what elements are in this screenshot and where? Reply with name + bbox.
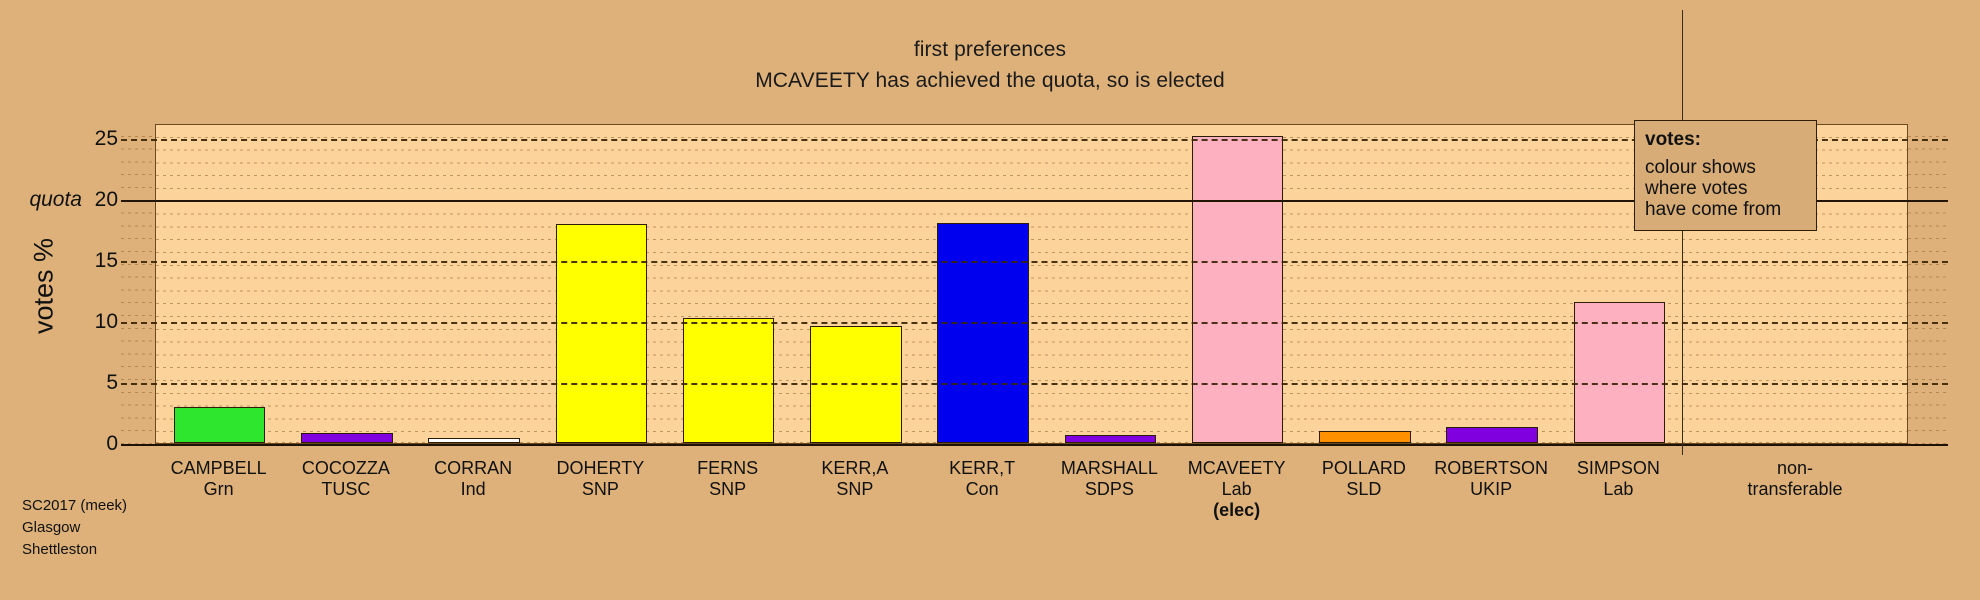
x-label-elected: (elec) <box>1173 500 1300 521</box>
x-label-party: Con <box>919 479 1046 500</box>
bar-ferns[interactable] <box>683 318 775 443</box>
x-label-name: MCAVEETY <box>1173 458 1300 479</box>
grid-shoulder-left <box>121 124 155 444</box>
bar-corran[interactable] <box>428 438 520 443</box>
x-label-kerr-t: KERR,TCon <box>919 458 1046 500</box>
x-label-party: Grn <box>155 479 282 500</box>
x-label-name: MARSHALL <box>1046 458 1173 479</box>
x-label-marshall: MARSHALLSDPS <box>1046 458 1173 500</box>
gridline-5 <box>121 383 1948 385</box>
y-tick-label-5: 5 <box>0 371 118 395</box>
x-label-party: SDPS <box>1046 479 1173 500</box>
x-label-name: DOHERTY <box>537 458 664 479</box>
bar-kerr-t[interactable] <box>937 223 1029 443</box>
x-label-party: Ind <box>410 479 537 500</box>
bar-robertson[interactable] <box>1446 427 1538 443</box>
x-label-robertson: ROBERTSONUKIP <box>1428 458 1555 500</box>
x-label-party: UKIP <box>1428 479 1555 500</box>
x-label-name: ROBERTSON <box>1428 458 1555 479</box>
quota-label: quota <box>0 188 82 212</box>
y-tick-label-0: 0 <box>0 432 118 456</box>
bar-mcaveety[interactable] <box>1192 136 1284 443</box>
x-label-non-transferable: non-transferable <box>1682 458 1908 500</box>
footer-line-2: Glasgow <box>22 517 127 539</box>
legend-line-2: where votes <box>1645 178 1806 199</box>
x-label-line: non- <box>1682 458 1908 479</box>
chart-title: first preferences <box>0 38 1980 62</box>
x-label-mcaveety: MCAVEETYLab(elec) <box>1173 458 1300 521</box>
chart-subtitle: MCAVEETY has achieved the quota, so is e… <box>0 69 1980 93</box>
legend-title: votes: <box>1645 129 1806 151</box>
x-label-cocozza: COCOZZATUSC <box>282 458 409 500</box>
x-label-ferns: FERNSSNP <box>664 458 791 500</box>
x-label-pollard: POLLARDSLD <box>1300 458 1427 500</box>
bar-doherty[interactable] <box>556 224 648 443</box>
gridline-15 <box>121 261 1948 263</box>
chart-canvas: first preferences MCAVEETY has achieved … <box>0 0 1980 600</box>
x-label-doherty: DOHERTYSNP <box>537 458 664 500</box>
x-label-name: KERR,T <box>919 458 1046 479</box>
x-label-party: SNP <box>537 479 664 500</box>
x-label-party: SNP <box>664 479 791 500</box>
x-label-party: TUSC <box>282 479 409 500</box>
x-axis-baseline <box>121 444 1948 446</box>
legend-line-3: have come from <box>1645 199 1806 220</box>
x-label-party: SNP <box>791 479 918 500</box>
legend-line-1: colour shows <box>1645 157 1806 178</box>
bar-pollard[interactable] <box>1319 431 1411 443</box>
x-label-simpson: SIMPSONLab <box>1555 458 1682 500</box>
x-label-name: CORRAN <box>410 458 537 479</box>
y-tick-label-25: 25 <box>0 127 118 151</box>
legend-box: votes: colour shows where votes have com… <box>1634 120 1817 231</box>
x-label-name: KERR,A <box>791 458 918 479</box>
x-label-party: SLD <box>1300 479 1427 500</box>
x-label-name: CAMPBELL <box>155 458 282 479</box>
footer-line-3: Shettleston <box>22 539 127 561</box>
x-label-party: Lab <box>1555 479 1682 500</box>
x-label-name: POLLARD <box>1300 458 1427 479</box>
x-label-kerr-a: KERR,ASNP <box>791 458 918 500</box>
x-label-campbell: CAMPBELLGrn <box>155 458 282 500</box>
grid-shoulder-right <box>1908 124 1948 444</box>
x-label-name: COCOZZA <box>282 458 409 479</box>
x-label-line: transferable <box>1682 479 1908 500</box>
x-label-party: Lab <box>1173 479 1300 500</box>
x-label-corran: CORRANInd <box>410 458 537 500</box>
footer-caption: SC2017 (meek) Glasgow Shettleston <box>22 495 127 561</box>
y-axis-title: votes % <box>29 238 60 334</box>
bar-campbell[interactable] <box>174 407 266 443</box>
gridline-10 <box>121 322 1948 324</box>
footer-line-1: SC2017 (meek) <box>22 495 127 517</box>
bar-cocozza[interactable] <box>301 433 393 443</box>
bar-marshall[interactable] <box>1065 435 1157 443</box>
x-label-name: FERNS <box>664 458 791 479</box>
nontransferable-divider <box>1682 10 1683 455</box>
x-label-name: SIMPSON <box>1555 458 1682 479</box>
